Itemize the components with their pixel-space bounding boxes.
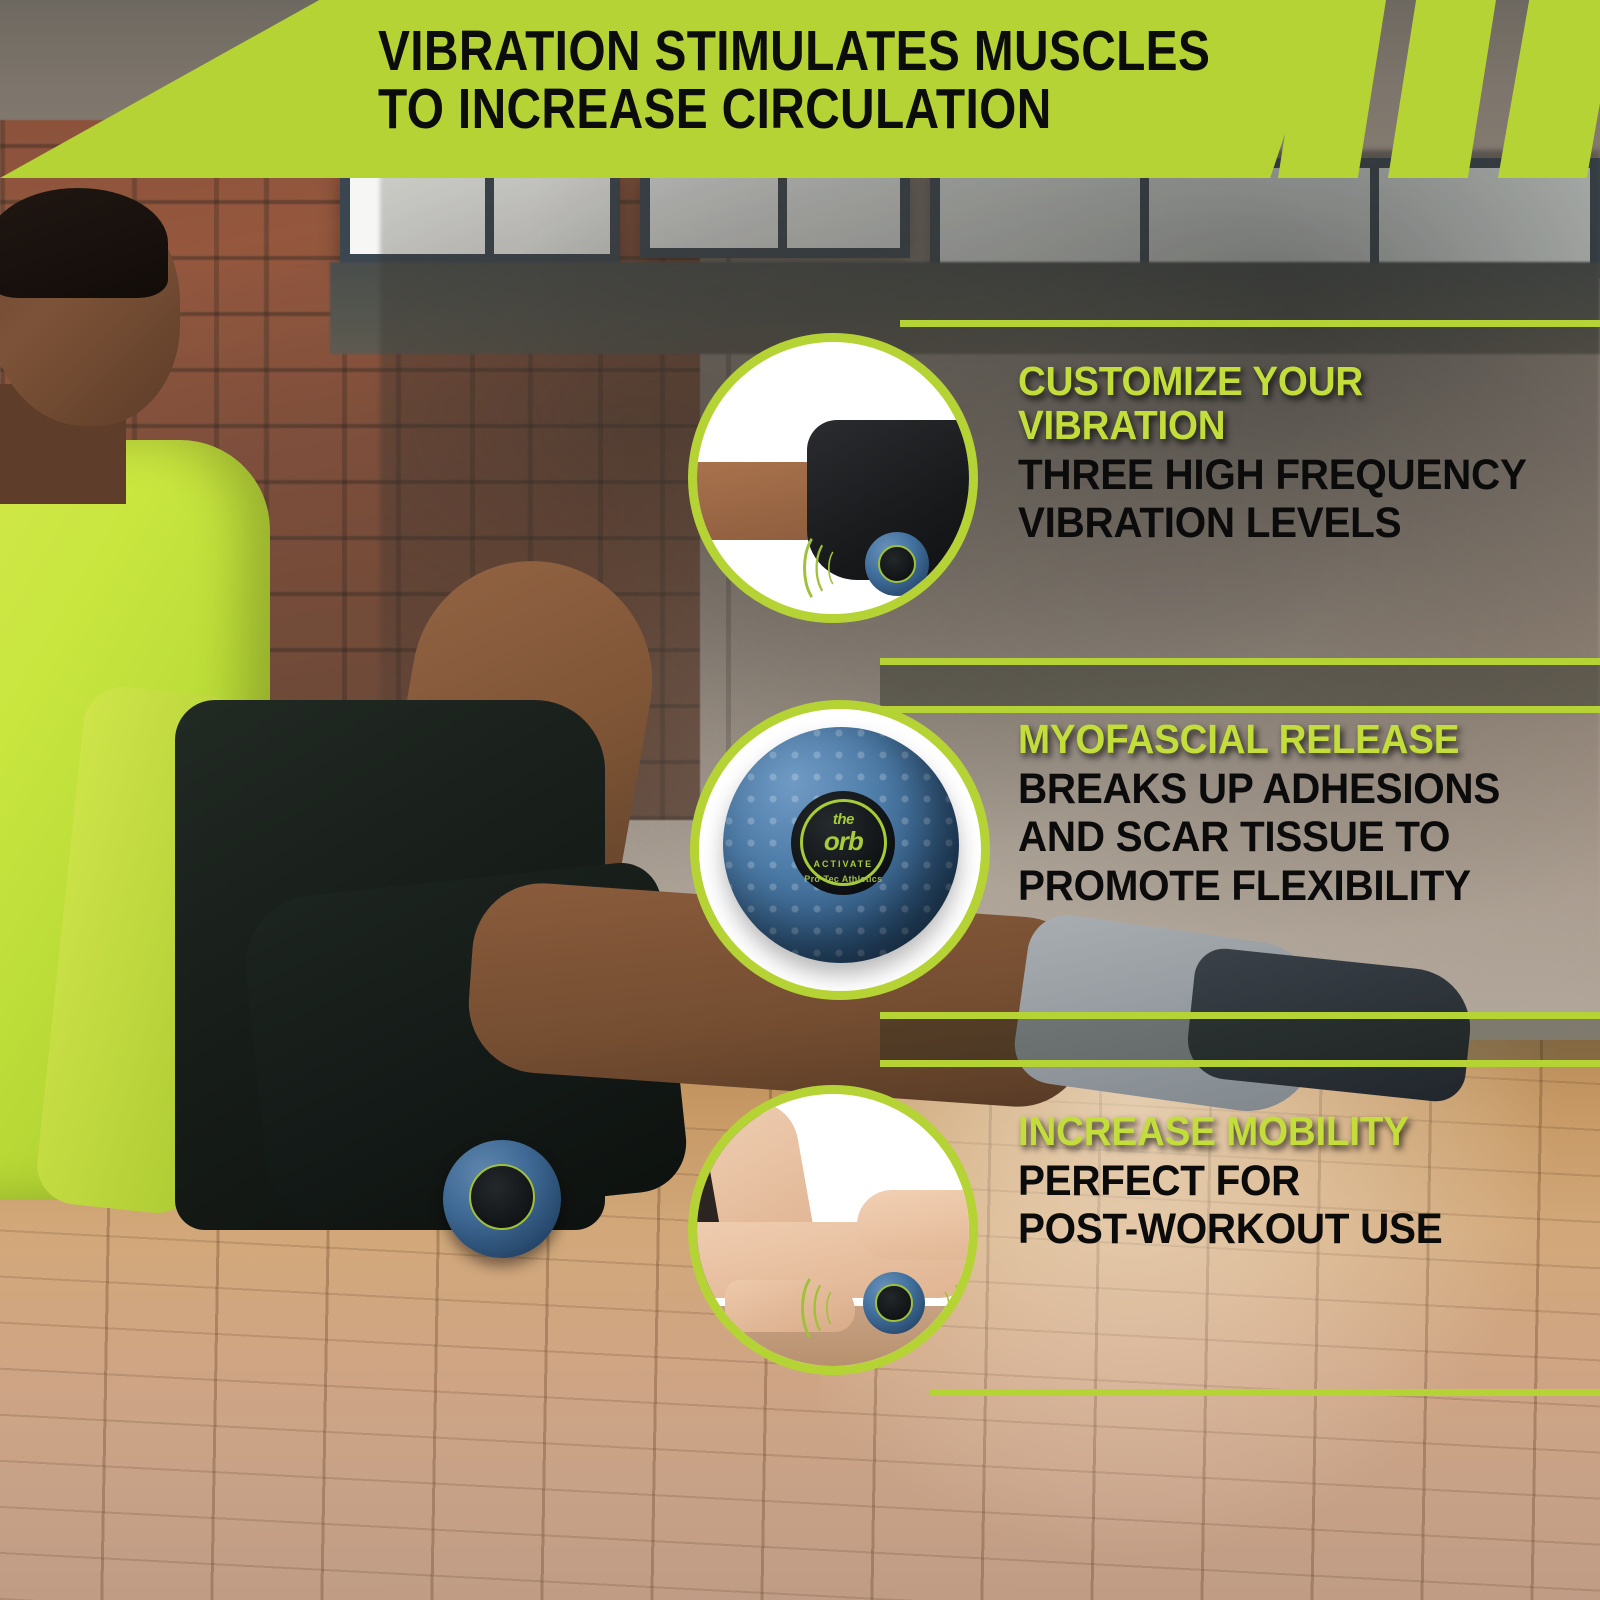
feature-text-myofascial-release: MYOFASCIAL RELEASE BREAKS UP ADHESIONS A… <box>1018 718 1600 911</box>
divider-2-upper <box>880 1012 1600 1019</box>
logo-text-orb: orb <box>791 828 895 854</box>
divider-band-2 <box>880 1019 1600 1060</box>
feature-body-1-line-1: THREE HIGH FREQUENCY <box>1018 451 1582 500</box>
feature-body-2-line-2: AND SCAR TISSUE TO <box>1018 813 1582 862</box>
feature-body-2: BREAKS UP ADHESIONS AND SCAR TISSUE TO P… <box>1018 765 1582 911</box>
divider-top <box>900 320 1600 327</box>
vibration-waves-right-icon <box>923 530 965 600</box>
divider-bottom <box>930 1389 1600 1396</box>
feature-body-3-line-1: PERFECT FOR <box>1018 1157 1582 1206</box>
orb-small-1 <box>865 532 929 596</box>
feature-heading-2: MYOFASCIAL RELEASE <box>1018 718 1582 762</box>
feature-body-1: THREE HIGH FREQUENCY VIBRATION LEVELS <box>1018 451 1582 548</box>
divider-band-1 <box>880 665 1600 706</box>
athlete-hair <box>0 188 168 298</box>
orb-small-3 <box>863 1272 925 1334</box>
vibration-waves-left-icon <box>817 530 859 600</box>
feature-text-increase-mobility: INCREASE MOBILITY PERFECT FOR POST-WORKO… <box>1018 1110 1600 1254</box>
feature-text-customize-vibration: CUSTOMIZE YOUR VIBRATION THREE HIGH FREQ… <box>1018 360 1600 548</box>
feature-heading-2-line-1: MYOFASCIAL RELEASE <box>1018 718 1582 762</box>
leg-upper-shape <box>857 1190 978 1260</box>
orb-cap-icon <box>875 1284 912 1321</box>
logo-text-brand: Pro-Tec Athletics <box>791 874 895 884</box>
orb-cap-logo: the orb ACTIVATE Pro-Tec Athletics <box>791 791 895 895</box>
feature-heading-1-line-2: VIBRATION <box>1018 404 1582 448</box>
feature-heading-3-line-1: INCREASE MOBILITY <box>1018 1110 1582 1154</box>
feature-body-2-line-3: PROMOTE FLEXIBILITY <box>1018 862 1582 911</box>
infographic-root: VIBRATION STIMULATES MUSCLES TO INCREASE… <box>0 0 1600 1600</box>
logo-text-activate: ACTIVATE <box>791 859 895 869</box>
divider-1-lower <box>880 706 1600 713</box>
orb-product-hero: the orb ACTIVATE Pro-Tec Athletics <box>723 727 959 963</box>
feature-image-customize-vibration <box>688 333 978 623</box>
divider-1-upper <box>880 658 1600 665</box>
divider-2-lower <box>880 1060 1600 1067</box>
feature-image-myofascial-release: the orb ACTIVATE Pro-Tec Athletics <box>690 700 990 1000</box>
feature-body-2-line-1: BREAKS UP ADHESIONS <box>1018 765 1582 814</box>
feature-heading-3: INCREASE MOBILITY <box>1018 1110 1582 1154</box>
orb-on-floor <box>443 1140 561 1258</box>
feature-heading-1-line-1: CUSTOMIZE YOUR <box>1018 360 1582 404</box>
vibration-waves-left-icon <box>815 1270 857 1340</box>
feature-body-3-line-2: POST-WORKOUT USE <box>1018 1205 1582 1254</box>
feature-body-3: PERFECT FOR POST-WORKOUT USE <box>1018 1157 1582 1254</box>
orb-cap-icon <box>878 545 916 583</box>
vibration-waves-right-icon <box>919 1270 961 1340</box>
feature-image-increase-mobility <box>688 1085 978 1375</box>
feature-body-1-line-2: VIBRATION LEVELS <box>1018 499 1582 548</box>
orb-cap-icon <box>469 1164 535 1230</box>
feature-heading-1: CUSTOMIZE YOUR VIBRATION <box>1018 360 1582 448</box>
